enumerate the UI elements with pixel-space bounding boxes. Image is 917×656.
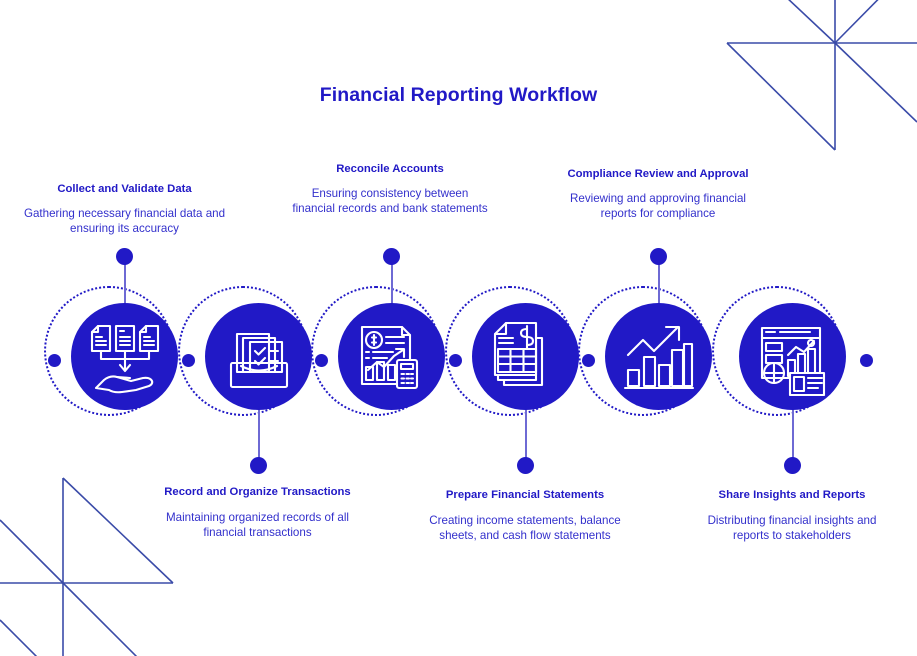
step-label-2: Record and Organize Transactions Maintai…: [155, 485, 360, 541]
connector-dot-5: [650, 248, 667, 265]
workflow-stage: Collect and Validate Data Gathering nece…: [0, 0, 917, 656]
step-description-2: Maintaining organized records of all fin…: [155, 510, 360, 541]
step-description-6: Distributing financial insights and repo…: [692, 513, 892, 544]
step-description-4: Creating income statements, balance shee…: [425, 513, 625, 544]
arc-dot-6: [860, 354, 873, 367]
checklist-file-tray-icon: [220, 318, 298, 396]
arc-dot-4: [449, 354, 462, 367]
financial-report-calculator-icon: [353, 318, 431, 396]
step-description-5: Reviewing and approving financial report…: [558, 191, 758, 222]
arc-dot-1: [48, 354, 61, 367]
step-description-3: Ensuring consistency between financial r…: [290, 186, 490, 217]
step-label-6: Share Insights and Reports Distributing …: [692, 488, 892, 544]
step-label-3: Reconcile Accounts Ensuring consistency …: [290, 162, 490, 217]
step-title-4: Prepare Financial Statements: [425, 488, 625, 503]
step-label-4: Prepare Financial Statements Creating in…: [425, 488, 625, 544]
step-title-5: Compliance Review and Approval: [558, 167, 758, 182]
step-label-1: Collect and Validate Data Gathering nece…: [22, 182, 227, 237]
step-title-3: Reconcile Accounts: [290, 162, 490, 177]
connector-dot-1: [116, 248, 133, 265]
analytics-dashboard-icon: [754, 318, 832, 396]
step-label-5: Compliance Review and Approval Reviewing…: [558, 167, 758, 222]
step-title-6: Share Insights and Reports: [692, 488, 892, 503]
infographic-canvas: Financial Reporting Workflow: [0, 0, 917, 656]
connector-dot-3: [383, 248, 400, 265]
step-title-2: Record and Organize Transactions: [155, 485, 360, 500]
step-title-1: Collect and Validate Data: [22, 182, 227, 197]
dollar-statement-table-icon: [487, 318, 565, 396]
connector-dot-2: [250, 457, 267, 474]
arc-dot-3: [315, 354, 328, 367]
connector-dot-6: [784, 457, 801, 474]
arc-dot-5: [582, 354, 595, 367]
step-description-1: Gathering necessary financial data and e…: [22, 206, 227, 237]
connector-dot-4: [517, 457, 534, 474]
growth-bar-chart-arrow-icon: [620, 318, 698, 396]
documents-to-hand-icon: [86, 318, 164, 396]
arc-dot-2: [182, 354, 195, 367]
